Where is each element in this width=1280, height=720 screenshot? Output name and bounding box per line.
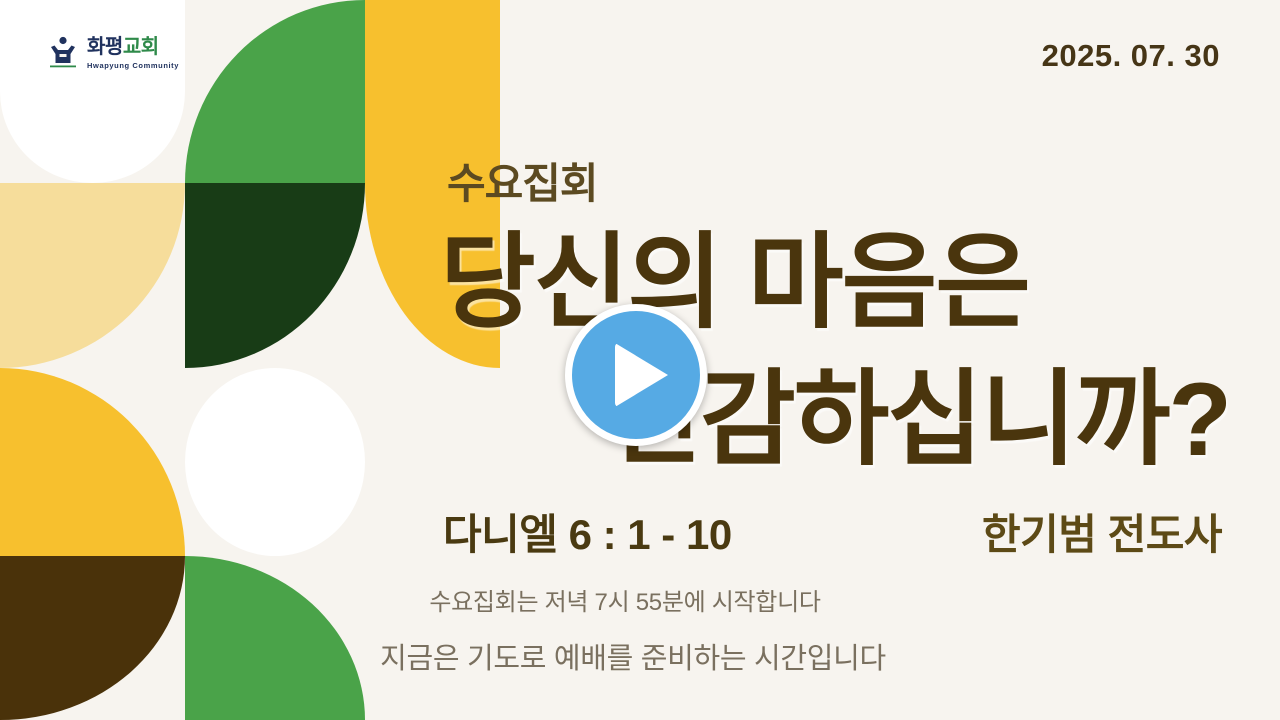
deco-yellow-quarter-right: [365, 183, 500, 368]
deco-white-circle-mid: [185, 368, 365, 556]
deco-green-quarter-top: [185, 0, 365, 183]
deco-light-yellow-quarter: [0, 183, 185, 368]
deco-white-circle-top-left: [0, 0, 185, 183]
deco-dark-green-quarter: [185, 183, 365, 368]
speaker-name: 한기범 전도사: [982, 501, 1222, 562]
logo-text: 화평교회 Hwapyung Community: [87, 37, 179, 70]
sermon-title-line-1: 당신의 마음은: [440, 215, 1230, 352]
person-figure-icon: [48, 36, 78, 70]
sermon-title-line-2: 민감하십니까?: [440, 352, 1230, 489]
play-button[interactable]: [565, 304, 707, 446]
deco-dark-brown-quarter-bottom: [0, 556, 185, 720]
play-triangle-icon: [615, 343, 668, 407]
deco-yellow-quarter-mid-left: [0, 368, 185, 556]
logo-korean-part-2: 교회: [123, 36, 159, 58]
logo-english-name: Hwapyung Community: [87, 62, 179, 70]
logo-korean-name: 화평교회: [87, 37, 179, 57]
deco-green-quarter-bottom: [185, 556, 365, 720]
scripture-reference: 다니엘 6 : 1 - 10: [443, 501, 732, 562]
sermon-title: 당신의 마음은 민감하십니까?: [440, 215, 1230, 490]
logo-korean-part-1: 화평: [87, 36, 123, 58]
service-type-kicker: 수요집회: [447, 150, 598, 211]
deco-yellow-block-top-right: [365, 0, 500, 183]
service-date: 2025. 07. 30: [1042, 38, 1220, 74]
notice-line-2: 지금은 기도로 예배를 준비하는 시간입니다: [0, 635, 1280, 677]
church-logo: 화평교회 Hwapyung Community: [48, 36, 179, 70]
service-notice: 수요집회는 저녁 7시 55분에 시작합니다 지금은 기도로 예배를 준비하는 …: [0, 582, 1280, 677]
video-thumbnail-frame: 화평교회 Hwapyung Community 2025. 07. 30 수요집…: [0, 0, 1280, 720]
notice-line-1: 수요집회는 저녁 7시 55분에 시작합니다: [0, 582, 1280, 617]
